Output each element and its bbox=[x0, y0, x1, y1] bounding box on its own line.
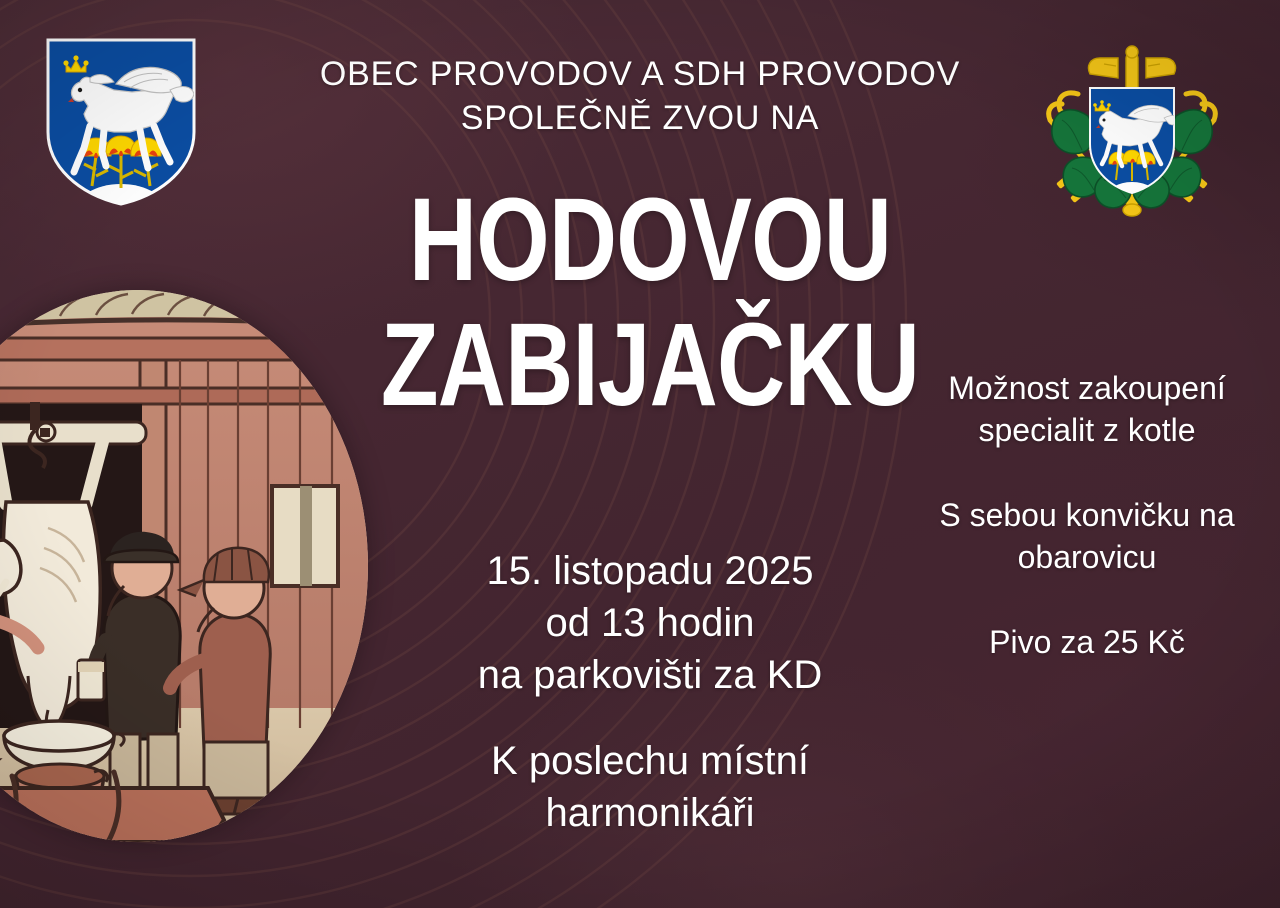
poster-canvas: OBEC PROVODOV A SDH PROVODOV SPOLEČNĚ ZV… bbox=[0, 0, 1280, 908]
event-place: na parkovišti za KD bbox=[370, 649, 930, 701]
offer-bring-jug-line-1: S sebou konvičku na bbox=[912, 495, 1262, 537]
offer-bring-jug-line-2: obarovicu bbox=[912, 537, 1262, 579]
header-text: OBEC PROVODOV A SDH PROVODOV SPOLEČNĚ ZV… bbox=[280, 52, 1000, 140]
title-line-2: ZABIJAČKU bbox=[370, 311, 930, 420]
event-music-line-1: K poslechu místní bbox=[370, 735, 930, 787]
event-offers: Možnost zakoupení specialit z kotle S se… bbox=[912, 368, 1262, 664]
offer-specialties-line-2: specialit z kotle bbox=[912, 410, 1262, 452]
poster-title: HODOVOU ZABIJAČKU bbox=[300, 186, 1000, 419]
offer-beer-price-text: Pivo za 25 Kč bbox=[912, 622, 1262, 664]
offer-specialties: Možnost zakoupení specialit z kotle bbox=[912, 368, 1262, 451]
sdh-fire-brigade-emblem-icon bbox=[1032, 40, 1232, 218]
event-music-line-2: harmonikáři bbox=[370, 787, 930, 839]
offer-bring-jug: S sebou konvičku na obarovicu bbox=[912, 495, 1262, 578]
title-line-1: HODOVOU bbox=[370, 186, 930, 295]
offer-beer-price: Pivo za 25 Kč bbox=[912, 622, 1262, 664]
municipal-coat-of-arms-icon bbox=[44, 36, 198, 208]
event-time: od 13 hodin bbox=[370, 597, 930, 649]
event-music: K poslechu místní harmonikáři bbox=[370, 735, 930, 839]
event-date: 15. listopadu 2025 bbox=[370, 545, 930, 597]
event-details: 15. listopadu 2025 od 13 hodin na parkov… bbox=[370, 545, 930, 839]
event-when-where: 15. listopadu 2025 od 13 hodin na parkov… bbox=[370, 545, 930, 701]
offer-specialties-line-1: Možnost zakoupení bbox=[912, 368, 1262, 410]
header-line-2: SPOLEČNĚ ZVOU NA bbox=[280, 96, 1000, 140]
header-line-1: OBEC PROVODOV A SDH PROVODOV bbox=[280, 52, 1000, 96]
